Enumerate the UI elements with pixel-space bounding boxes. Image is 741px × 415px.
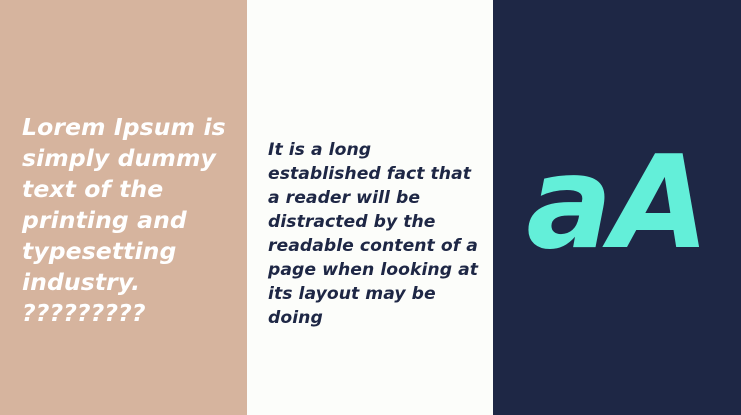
tan-panel-sample-text: Lorem Ipsum is simply dummy text of the … (22, 112, 234, 329)
tan-sample-panel[interactable]: Lorem Ipsum is simply dummy text of the … (0, 0, 247, 415)
light-panel-sample-text: It is a long established fact that a rea… (268, 138, 480, 330)
glyph-pair-aA: aA (493, 141, 741, 266)
navy-glyph-panel[interactable]: aA (493, 0, 741, 415)
font-specimen-card: Lorem Ipsum is simply dummy text of the … (0, 0, 741, 415)
light-sample-panel[interactable]: It is a long established fact that a rea… (247, 0, 493, 415)
